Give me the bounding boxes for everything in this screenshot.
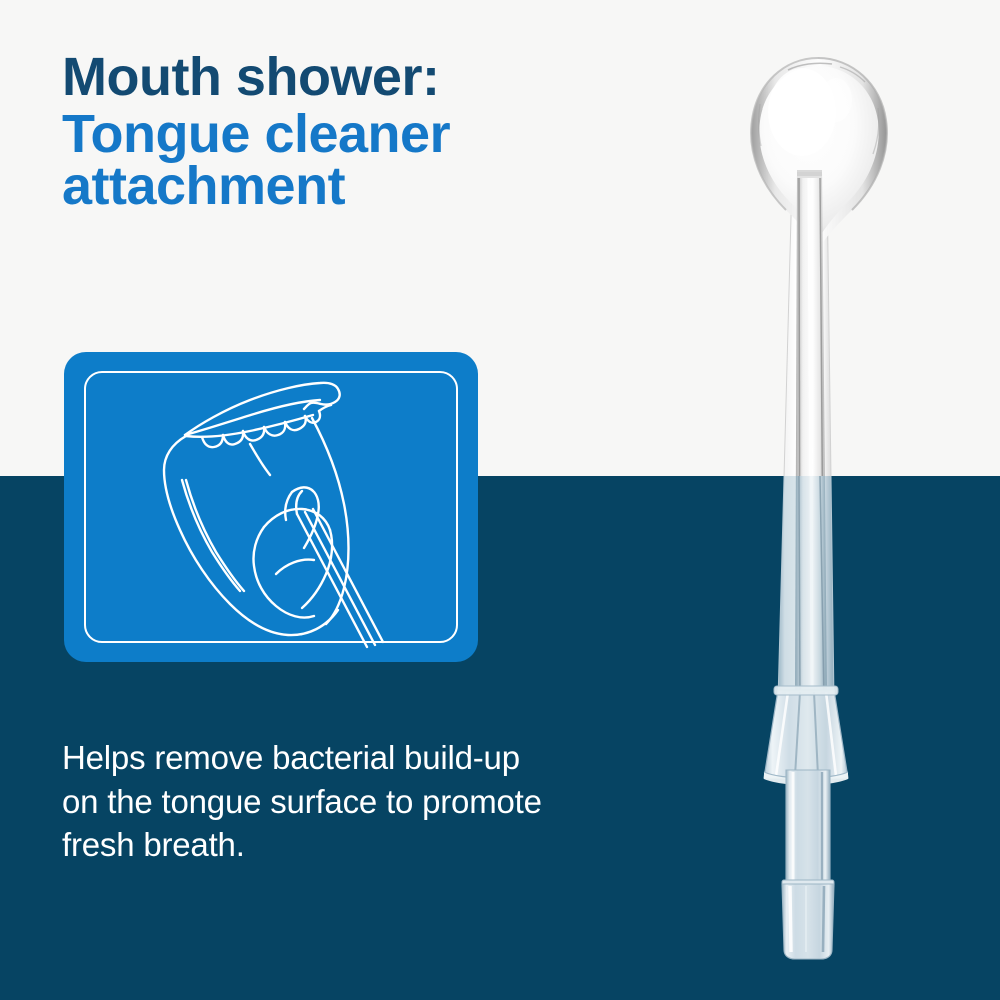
description-line-2: on the tongue surface to promote	[62, 780, 762, 824]
mouth-diagram-icon	[64, 352, 478, 662]
infographic-canvas: Mouth shower: Tongue cleaner attachment	[0, 0, 1000, 1000]
illustration-card	[64, 352, 478, 662]
title-line-subject-2: attachment	[62, 161, 702, 212]
product-inner-tube	[795, 170, 827, 700]
description-line-1: Helps remove bacterial build-up	[62, 736, 762, 780]
product-image-tongue-cleaner	[700, 0, 950, 1000]
description-text: Helps remove bacterial build-up on the t…	[62, 736, 762, 867]
description-line-3: fresh breath.	[62, 823, 762, 867]
product-connector-base	[782, 770, 834, 959]
page-title: Mouth shower: Tongue cleaner attachment	[62, 52, 702, 212]
title-line-subject-1: Tongue cleaner	[62, 109, 702, 160]
title-line-product: Mouth shower:	[62, 52, 702, 103]
